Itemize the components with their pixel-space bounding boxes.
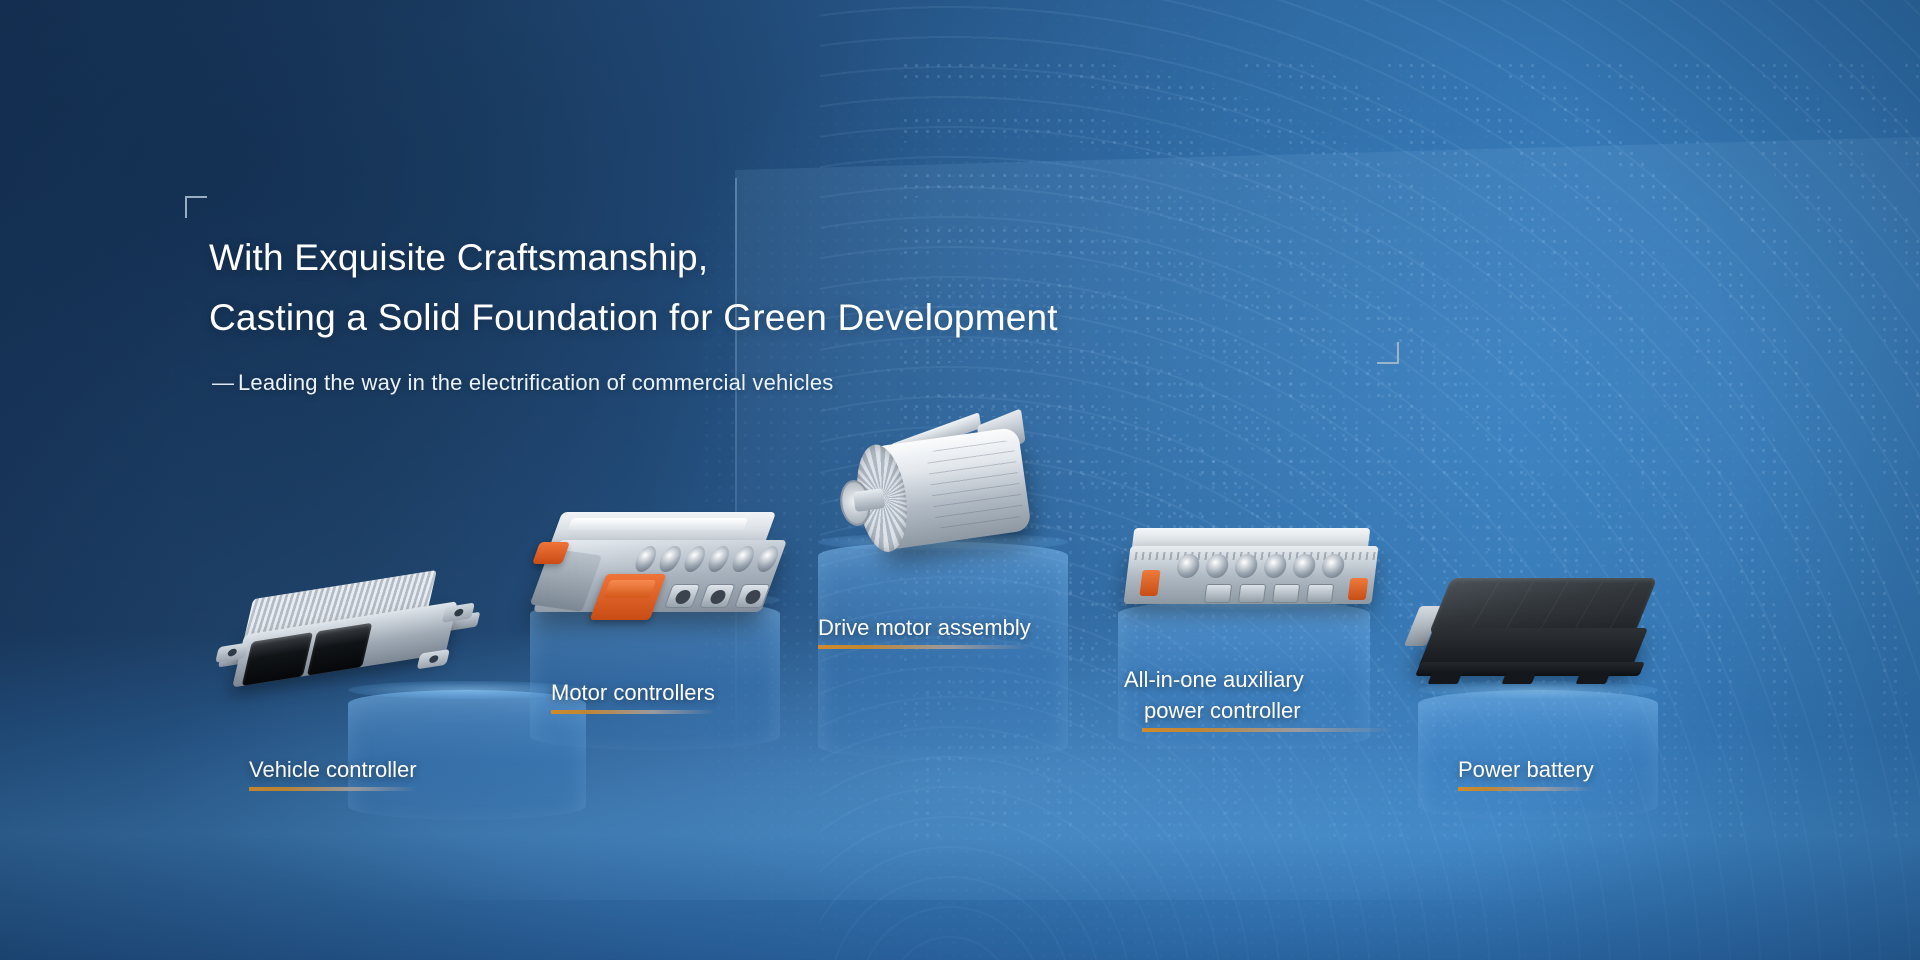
hero-banner: With Exquisite Craftsmanship, Casting a … <box>0 0 1920 960</box>
power-battery-device-icon <box>1418 578 1658 698</box>
label-text: Power battery <box>1458 757 1594 782</box>
label-power-battery: Power battery <box>1458 755 1594 791</box>
label-underline <box>1458 787 1594 791</box>
product-power-battery[interactable]: Power battery <box>0 0 1920 960</box>
